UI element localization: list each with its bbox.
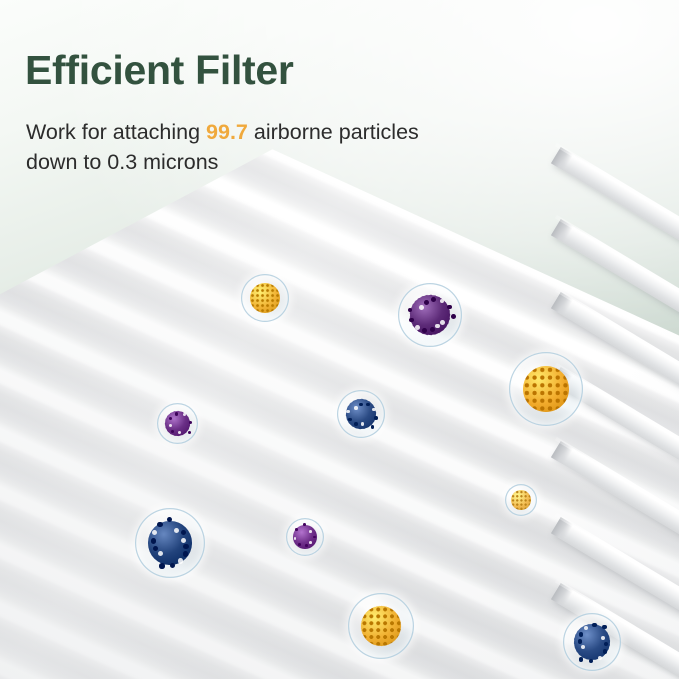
- virus-particle-purple-large: [398, 283, 462, 347]
- virus-particle-purple-small-1: [157, 403, 198, 444]
- pollen-particle-1: [241, 274, 289, 322]
- particle-knob: [153, 546, 158, 551]
- particle-knob: [422, 328, 427, 333]
- particle-knob: [578, 639, 582, 643]
- particle-knob: [604, 642, 608, 646]
- particle-knob: [409, 318, 414, 323]
- subtitle-accent-value: 99.7: [206, 120, 248, 144]
- particle-body: [293, 525, 317, 549]
- particle-knob: [354, 406, 358, 410]
- particle-knob: [451, 314, 456, 319]
- subtitle-part-1: Work for attaching: [26, 120, 206, 144]
- virus-core: [165, 411, 190, 436]
- particle-knob: [158, 551, 163, 556]
- particle-knob: [178, 431, 181, 434]
- particle-knob: [603, 649, 607, 653]
- particle-knob: [430, 327, 435, 332]
- particle-knob: [447, 305, 452, 310]
- virus-core: [293, 525, 317, 549]
- particle-knob: [305, 544, 308, 547]
- virus-particle-blue-2: [563, 613, 621, 671]
- particle-knob: [169, 417, 172, 420]
- virus-core: [148, 521, 191, 564]
- particle-knob: [348, 418, 352, 422]
- particle-knob: [602, 625, 606, 629]
- pollen-core: [511, 490, 531, 510]
- pollen-particle-2: [348, 593, 414, 659]
- particle-body: [574, 624, 610, 660]
- particle-knob: [346, 410, 350, 414]
- particle-knob: [181, 538, 186, 543]
- particle-knob: [294, 537, 297, 540]
- particle-knob: [424, 300, 429, 305]
- particle-knob: [181, 530, 186, 535]
- page-title: Efficient Filter: [25, 47, 294, 94]
- particle-knob: [408, 308, 413, 313]
- particle-body: [523, 366, 569, 412]
- virus-core: [346, 399, 376, 429]
- virus-particle-blue-large: [135, 508, 205, 578]
- particle-knob: [584, 626, 588, 630]
- particle-knob: [188, 431, 191, 434]
- filter-folded-edges: [547, 0, 679, 679]
- particle-knob: [374, 416, 378, 420]
- virus-particle-blue-1: [337, 390, 385, 438]
- particle-knob: [309, 530, 312, 533]
- particle-knob: [431, 297, 436, 302]
- particle-knob: [372, 408, 376, 412]
- pollen-core: [361, 606, 402, 647]
- virus-core: [574, 624, 610, 660]
- particle-body: [148, 521, 191, 564]
- product-feature-graphic: Efficient Filter Work for attaching 99.7…: [0, 0, 679, 679]
- particle-knob: [361, 422, 365, 426]
- virus-particle-purple-small-2: [286, 518, 324, 556]
- particle-knob: [435, 324, 440, 329]
- virus-core: [410, 295, 450, 335]
- particle-knob: [183, 544, 188, 549]
- particle-body: [410, 295, 450, 335]
- particle-knob: [581, 645, 585, 649]
- particle-knob: [178, 558, 183, 563]
- particle-knob: [171, 430, 174, 433]
- pollen-core: [250, 283, 280, 313]
- particle-knob: [579, 632, 583, 636]
- particle-knob: [359, 403, 363, 407]
- particle-body: [511, 490, 531, 510]
- particle-knob: [169, 424, 172, 427]
- particle-knob: [371, 425, 375, 429]
- particle-knob: [189, 421, 192, 424]
- particle-knob: [601, 636, 605, 640]
- particle-knob: [295, 528, 298, 531]
- particle-knob: [151, 538, 156, 543]
- particle-knob: [183, 551, 188, 556]
- particle-knob: [159, 563, 164, 568]
- particle-knob: [298, 543, 301, 546]
- particle-knob: [415, 325, 420, 330]
- subtitle: Work for attaching 99.7 airborne particl…: [26, 117, 446, 177]
- particle-knob: [303, 523, 306, 526]
- particle-knob: [440, 299, 445, 304]
- particle-knob: [366, 403, 370, 407]
- particle-knob: [579, 657, 583, 661]
- particle-knob: [175, 412, 178, 415]
- particle-knob: [174, 528, 179, 533]
- particle-knob: [183, 413, 186, 416]
- pollen-core: [523, 366, 569, 412]
- particle-knob: [419, 305, 424, 310]
- particle-knob: [309, 541, 312, 544]
- particle-body: [346, 399, 376, 429]
- particle-knob: [167, 517, 172, 522]
- particle-knob: [152, 530, 157, 535]
- pollen-particle-tiny: [505, 484, 537, 516]
- particle-body: [250, 283, 280, 313]
- particle-knob: [313, 536, 316, 539]
- particle-knob: [592, 623, 596, 627]
- particle-knob: [157, 522, 162, 527]
- pollen-particle-large: [509, 352, 583, 426]
- particle-knob: [354, 422, 358, 426]
- particle-knob: [440, 320, 445, 325]
